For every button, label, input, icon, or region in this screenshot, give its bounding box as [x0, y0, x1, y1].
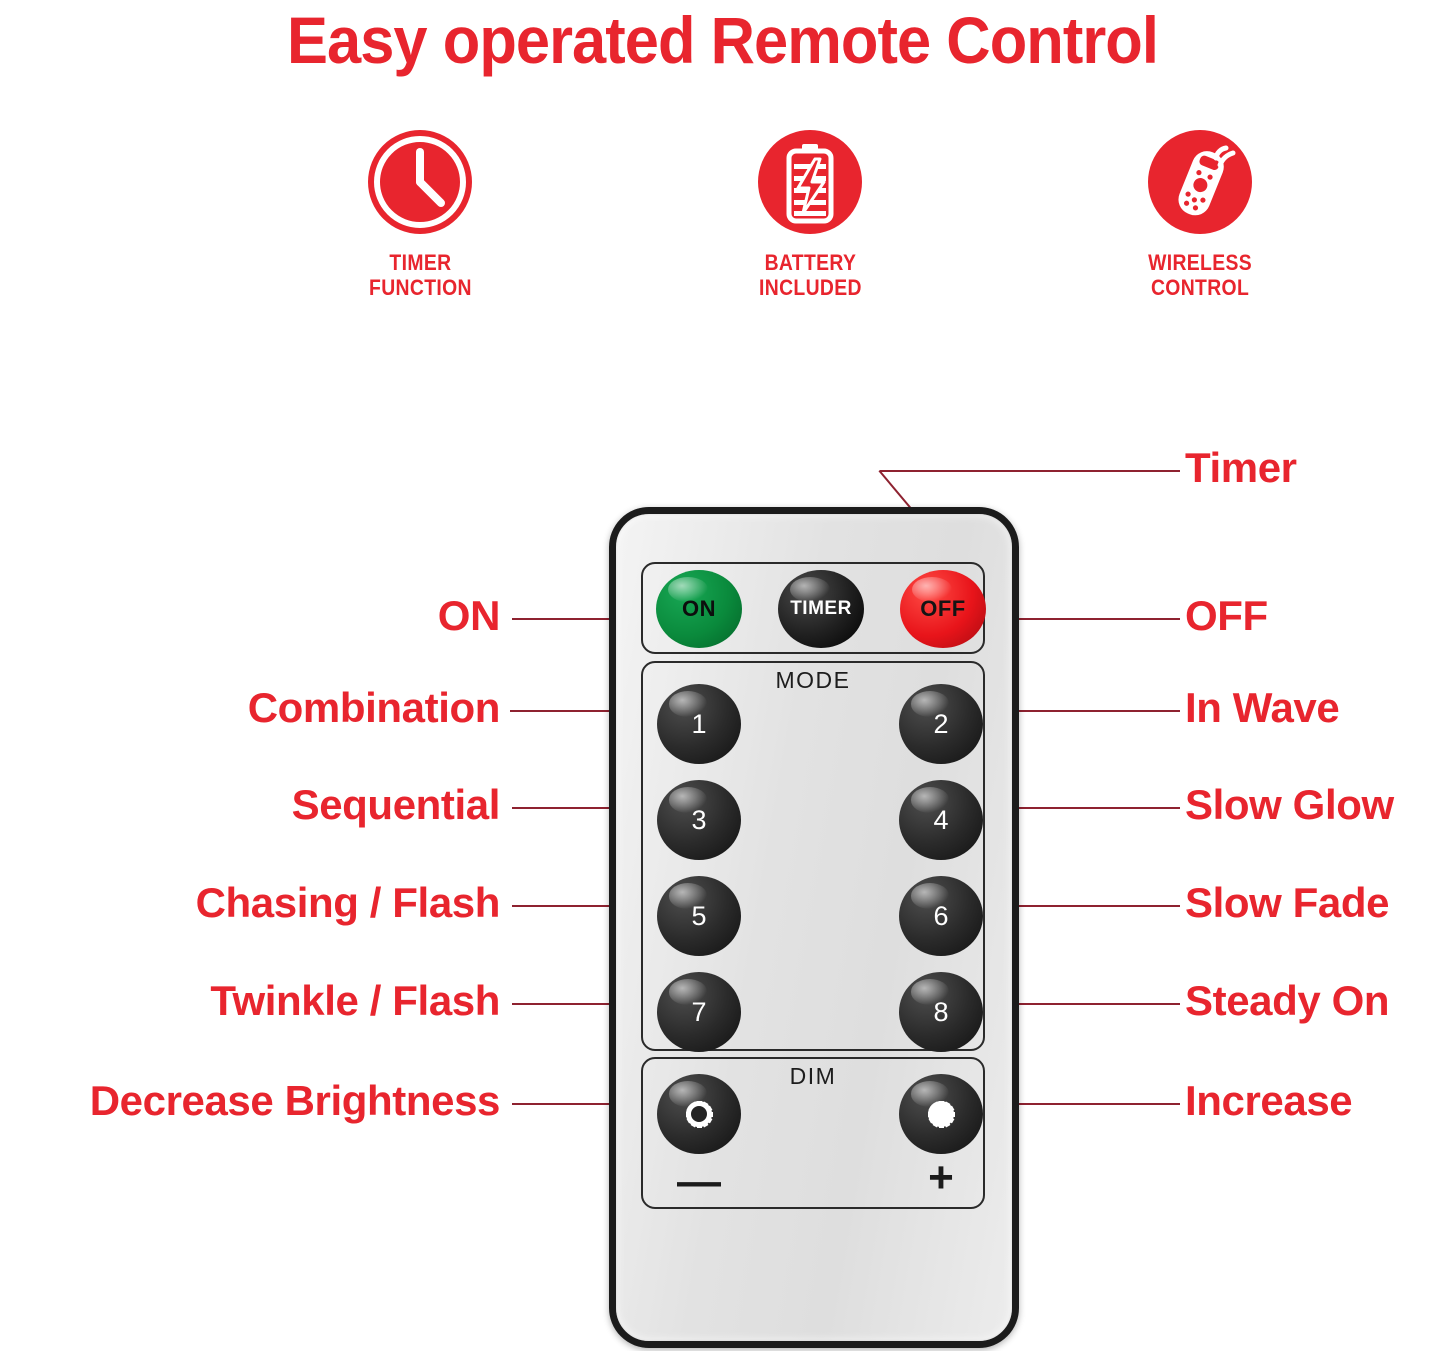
callout-on: ON	[0, 594, 500, 638]
mode-button-8[interactable]: 8	[899, 972, 983, 1052]
clock-icon	[366, 128, 474, 236]
callout-chasing-flash: Chasing / Flash	[0, 881, 500, 925]
minus-sign: —	[657, 1162, 741, 1202]
feature-caption: BATTERY INCLUDED	[759, 250, 862, 300]
callout-decrease-brightness: Decrease Brightness	[0, 1079, 500, 1123]
callout-sequential: Sequential	[0, 783, 500, 827]
feature-caption-line1: TIMER	[369, 250, 472, 275]
callout-twinkle-flash: Twinkle / Flash	[0, 979, 500, 1023]
feature-caption-line1: BATTERY	[759, 250, 862, 275]
leader-timer-horizontal	[880, 470, 1180, 472]
mode-button-6[interactable]: 6	[899, 876, 983, 956]
remote-control-device: ON TIMER OFF MODE 1 2 3 4 5 6 7 8 DIM	[609, 507, 1019, 1348]
feature-caption-line2: INCLUDED	[759, 275, 862, 300]
mode-button-2[interactable]: 2	[899, 684, 983, 764]
feature-caption: WIRELESS CONTROL	[1148, 250, 1252, 300]
mode-button-4[interactable]: 4	[899, 780, 983, 860]
callout-in-wave: In Wave	[1185, 686, 1339, 730]
callout-combination: Combination	[0, 686, 500, 730]
feature-battery-included: BATTERY INCLUDED	[690, 128, 930, 300]
brightness-increase-button[interactable]	[899, 1074, 983, 1154]
mode-button-5[interactable]: 5	[657, 876, 741, 956]
callout-slow-glow: Slow Glow	[1185, 783, 1394, 827]
battery-icon	[756, 128, 864, 236]
callout-increase: Increase	[1185, 1079, 1352, 1123]
plus-sign: +	[899, 1158, 983, 1198]
off-button[interactable]: OFF	[900, 570, 986, 648]
callout-steady-on: Steady On	[1185, 979, 1389, 1023]
mode-button-7[interactable]: 7	[657, 972, 741, 1052]
mode-button-1[interactable]: 1	[657, 684, 741, 764]
timer-button[interactable]: TIMER	[778, 570, 864, 648]
callout-slow-fade: Slow Fade	[1185, 881, 1389, 925]
sun-dim-icon	[670, 1085, 728, 1143]
sun-bright-icon	[912, 1085, 970, 1143]
feature-wireless-control: WIRELESS CONTROL	[1080, 128, 1320, 300]
page-title: Easy operated Remote Control	[51, 2, 1395, 78]
brightness-decrease-button[interactable]	[657, 1074, 741, 1154]
feature-caption: TIMER FUNCTION	[369, 250, 472, 300]
feature-timer-function: TIMER FUNCTION	[300, 128, 540, 300]
feature-badges: TIMER FUNCTION BATTERY INCLUDED	[300, 128, 1320, 300]
mode-button-3[interactable]: 3	[657, 780, 741, 860]
callout-timer: Timer	[1185, 446, 1297, 490]
feature-caption-line1: WIRELESS	[1148, 250, 1252, 275]
on-button[interactable]: ON	[656, 570, 742, 648]
feature-caption-line2: CONTROL	[1148, 275, 1252, 300]
remote-wireless-icon	[1146, 128, 1254, 236]
feature-caption-line2: FUNCTION	[369, 275, 472, 300]
callout-off: OFF	[1185, 594, 1268, 638]
